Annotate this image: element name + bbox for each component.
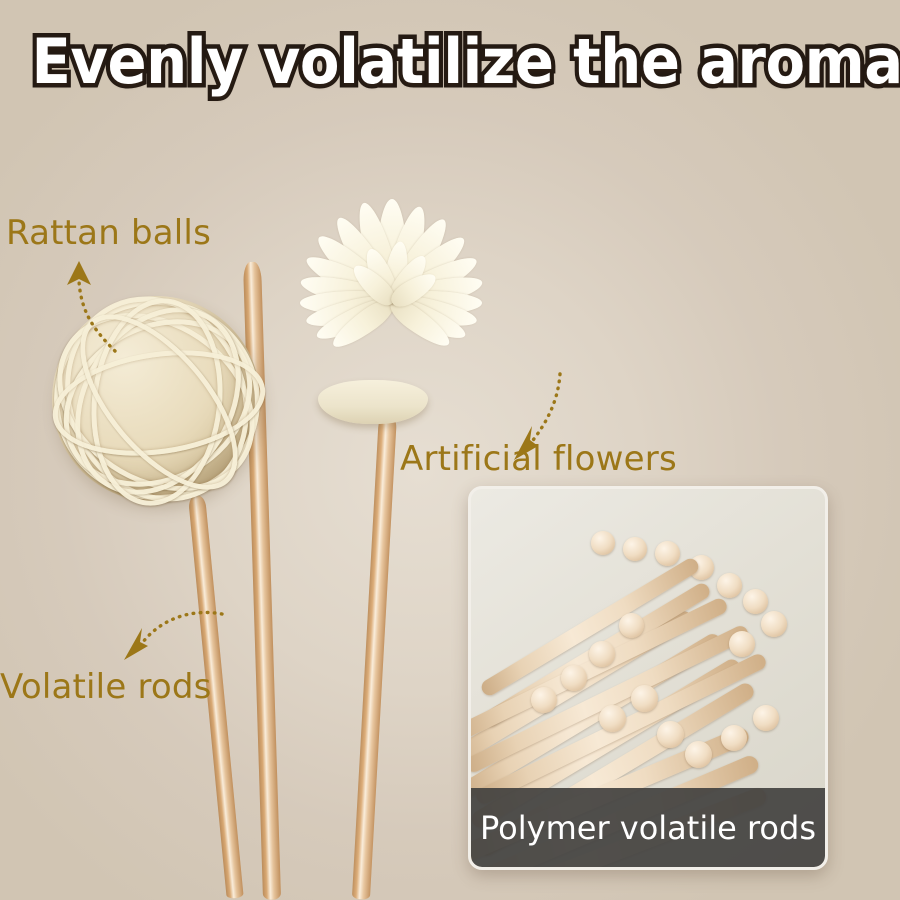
- polymer-rod-tip: [761, 611, 787, 637]
- polymer-rod-tip: [729, 631, 755, 657]
- polymer-rod-tip: [591, 531, 615, 555]
- polymer-rod-tip: [655, 541, 680, 566]
- polymer-rod-tip: [589, 641, 615, 667]
- polymer-rod-tip: [721, 725, 747, 751]
- label-volatile-rods: Volatile rods: [0, 668, 212, 706]
- label-rattan-balls: Rattan balls: [6, 214, 211, 252]
- polymer-rod-tip: [623, 537, 647, 561]
- inset-caption-text: Polymer volatile rods: [480, 810, 816, 846]
- polymer-rod-tip: [619, 613, 644, 638]
- inset-caption-bar: Polymer volatile rods: [471, 788, 825, 867]
- polymer-rod-tip: [685, 741, 712, 768]
- polymer-rod-tip: [753, 705, 779, 731]
- volatile-rods-arrow: [118, 604, 228, 674]
- polymer-rod-tip: [599, 705, 626, 732]
- volatile-rod-right: [352, 413, 397, 899]
- polymer-rod-tip: [743, 589, 768, 614]
- polymer-rod-tip: [717, 573, 742, 598]
- polymer-rod-tip: [631, 685, 658, 712]
- rattan-balls-arrow: [55, 255, 175, 355]
- page-title: Evenly volatilize the aroma: [32, 26, 869, 98]
- polymer-rod-tip: [531, 687, 557, 713]
- polymer-rod-tip: [561, 665, 587, 691]
- inset-photo-panel: Polymer volatile rods: [468, 486, 828, 870]
- label-artificial-flowers: Artificial flowers: [400, 440, 677, 478]
- polymer-rod-tip: [657, 721, 684, 748]
- product-feature-image: Evenly volatilize the aroma Rattan balls…: [0, 0, 900, 900]
